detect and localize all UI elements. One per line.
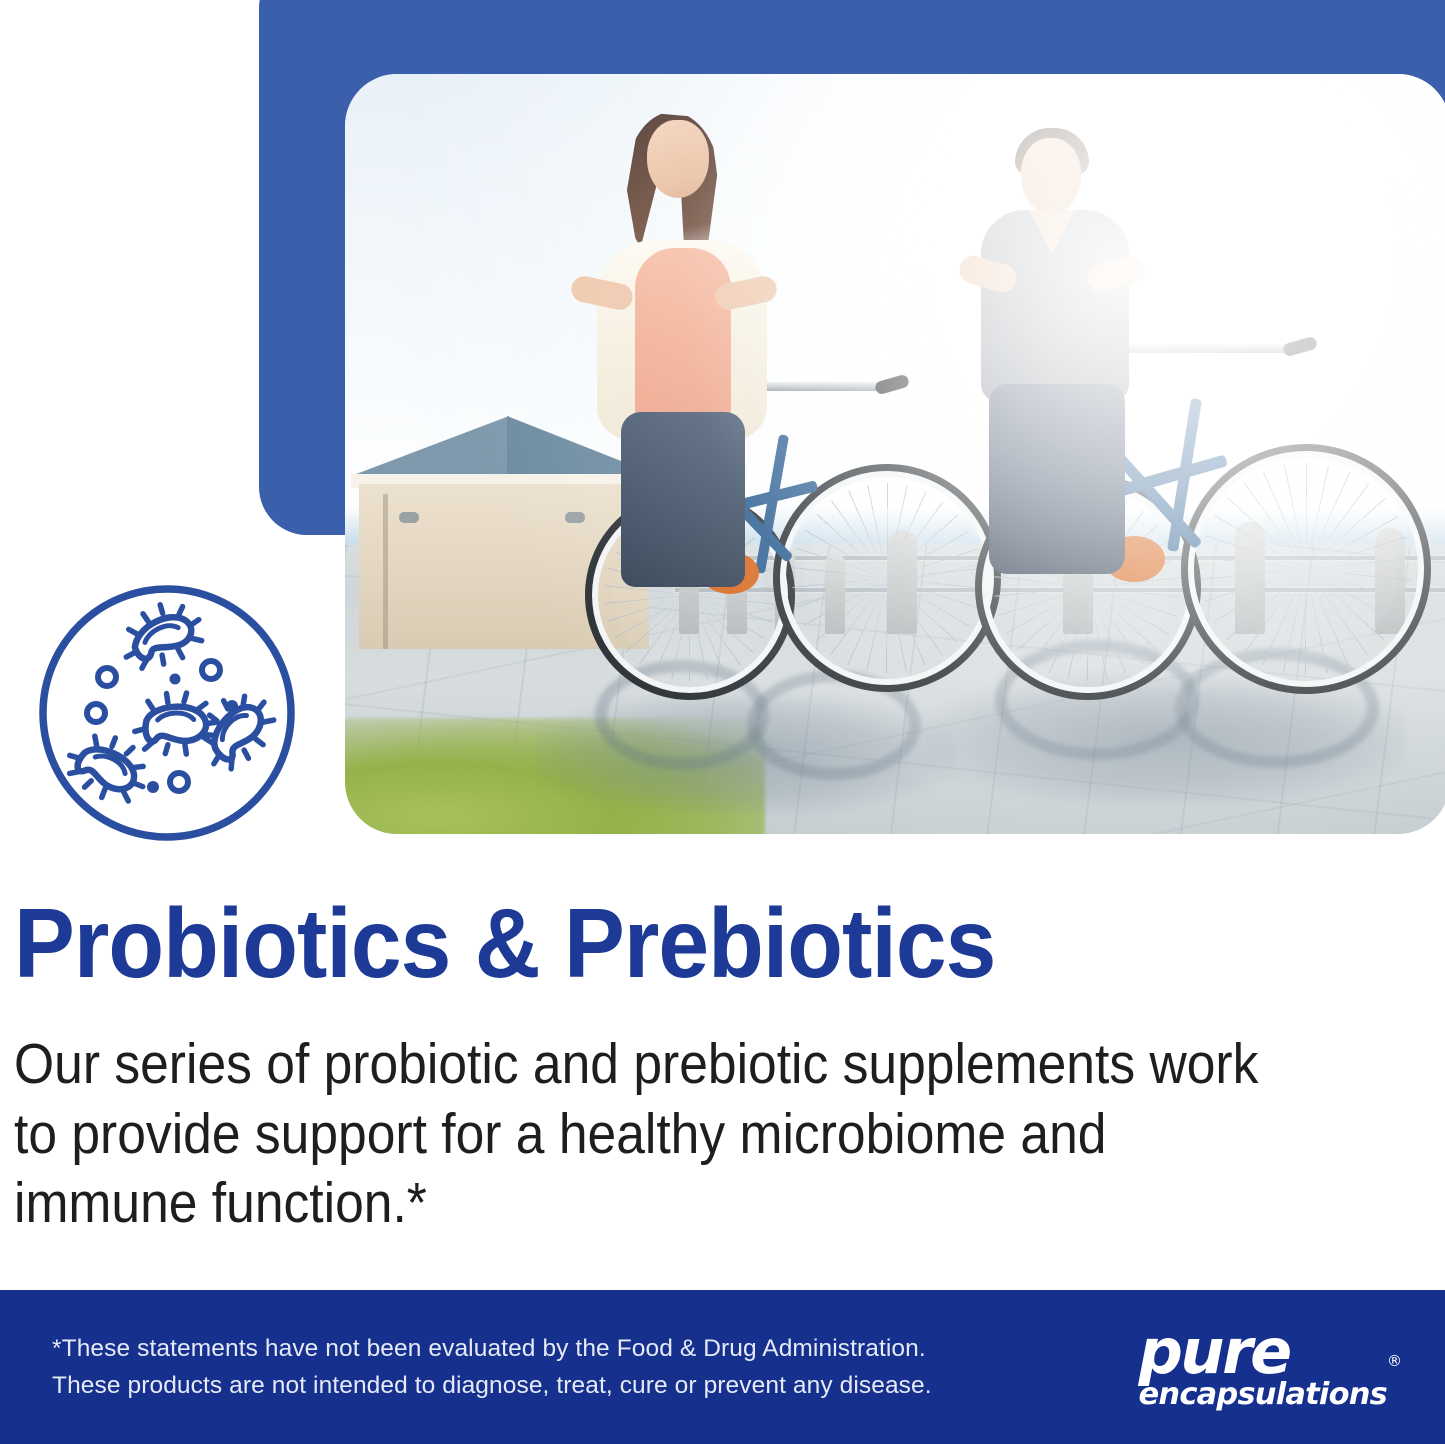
photo-woman-cyclist: [563, 120, 813, 600]
pure-encapsulations-logo: pure encapsulations ®: [1139, 1323, 1387, 1411]
registered-trademark-icon: ®: [1387, 1354, 1402, 1369]
page-title: Probiotics & Prebiotics: [14, 894, 995, 992]
logo-wordmark-secondary-row: encapsulations ®: [1139, 1380, 1387, 1411]
photo-man-cyclist: [963, 134, 1193, 604]
logo-wordmark-secondary: encapsulations: [1139, 1377, 1387, 1412]
logo-wordmark-primary: pure: [1139, 1323, 1387, 1380]
microbiome-icon: [36, 582, 298, 844]
fda-disclaimer: *These statements have not been evaluate…: [52, 1330, 932, 1404]
footer-bar: *These statements have not been evaluate…: [0, 1290, 1445, 1444]
page-description: Our series of probiotic and prebiotic su…: [14, 1030, 1281, 1239]
lifestyle-photo: [345, 74, 1445, 834]
